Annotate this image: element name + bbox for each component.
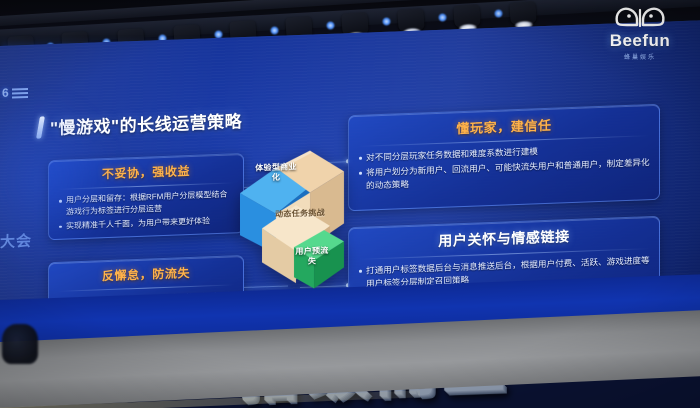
stage-light-icon <box>397 8 424 32</box>
card-bullet-list: 对不同分层玩家任务数据和难度系数进行建模 将用户划分为新用户、回流用户、可能快流… <box>358 141 650 193</box>
card-bullet-list: 用户分层和留存：根据RFM用户分层模型结合游戏行为标签进行分层运营 实现精准千人… <box>58 188 234 232</box>
edge-badge: 6 <box>2 85 28 100</box>
stage-light-blue-dot-icon <box>382 17 391 26</box>
stage-light-icon <box>453 4 480 28</box>
edge-banner-text: 大会 <box>0 230 32 252</box>
stage-light-blue-dot-icon <box>494 9 503 18</box>
stage-light-blue-dot-icon <box>438 13 447 22</box>
cube-label-green: 用户预流失 <box>292 246 332 267</box>
cube-diagram: 体验型商业化 动态任务挑战 用户预流失 <box>232 141 350 295</box>
slide-title-row: "慢游戏"的长线运营策略 <box>38 107 242 139</box>
person-silhouette <box>2 324 38 364</box>
bee-wings-icon <box>613 4 667 30</box>
logo-subtitle: 蜂巢娱乐 <box>594 52 686 61</box>
stage-light-icon <box>509 1 536 25</box>
title-accent-bar-icon <box>36 116 45 138</box>
cube-label-blue: 体验型商业化 <box>254 162 298 184</box>
brand-logo: Beefun 蜂巢娱乐 <box>594 4 686 61</box>
stage-photo: 6 大会 "慢游戏"的长线运营策略 不妥协，强收益 用户分层和留存：根据RFM用… <box>0 0 700 408</box>
slide-card-top-left: 不妥协，强收益 用户分层和留存：根据RFM用户分层模型结合游戏行为标签进行分层运… <box>48 153 244 240</box>
bullet-item: 用户分层和留存：根据RFM用户分层模型结合游戏行为标签进行分层运营 <box>58 188 234 218</box>
stage-light-blue-dot-icon <box>270 26 279 35</box>
slide-card-top-right: 懂玩家，建信任 对不同分层玩家任务数据和难度系数进行建模 将用户划分为新用户、回… <box>348 104 660 211</box>
stage-light-blue-dot-icon <box>326 21 335 30</box>
card-header: 反懈怠，防流失 <box>58 262 234 285</box>
edge-badge-bars-icon <box>12 92 28 95</box>
edge-badge-number: 6 <box>2 86 10 100</box>
slide-title: "慢游戏"的长线运营策略 <box>50 107 242 139</box>
card-header: 不妥协，强收益 <box>58 160 234 183</box>
logo-name: Beefun <box>594 31 686 51</box>
